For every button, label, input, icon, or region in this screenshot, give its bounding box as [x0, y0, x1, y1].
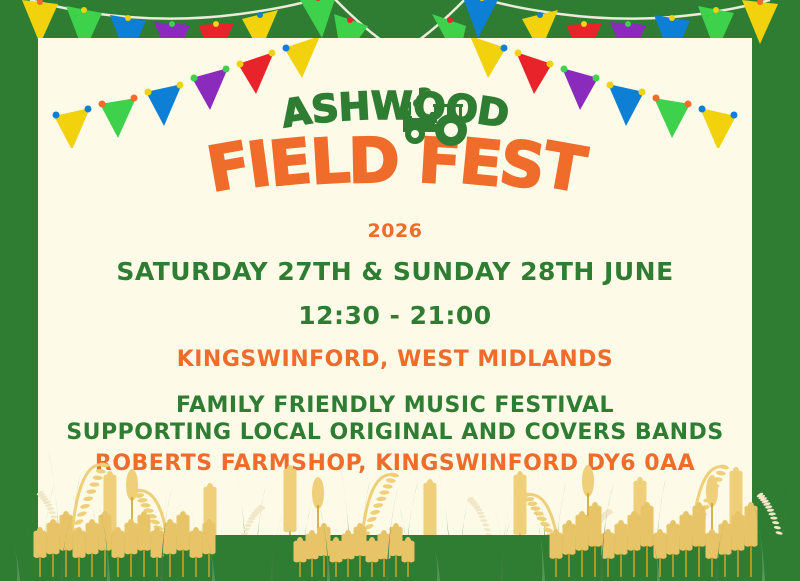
tractor-icon — [393, 86, 479, 148]
festival-logo: ASHWOOD FIELD FEST — [38, 90, 752, 203]
event-year: 2026 — [38, 220, 752, 242]
festival-poster: ASHWOOD FIELD FEST — [0, 0, 800, 581]
event-dates: SATURDAY 27TH & SUNDAY 28TH JUNE — [38, 257, 752, 286]
event-times: 12:30 - 21:00 — [38, 301, 752, 330]
event-location: KINGSWINFORD, WEST MIDLANDS — [38, 347, 752, 372]
event-description-1: FAMILY FRIENDLY MUSIC FESTIVAL — [38, 393, 752, 420]
wheat-field-border — [0, 431, 800, 581]
